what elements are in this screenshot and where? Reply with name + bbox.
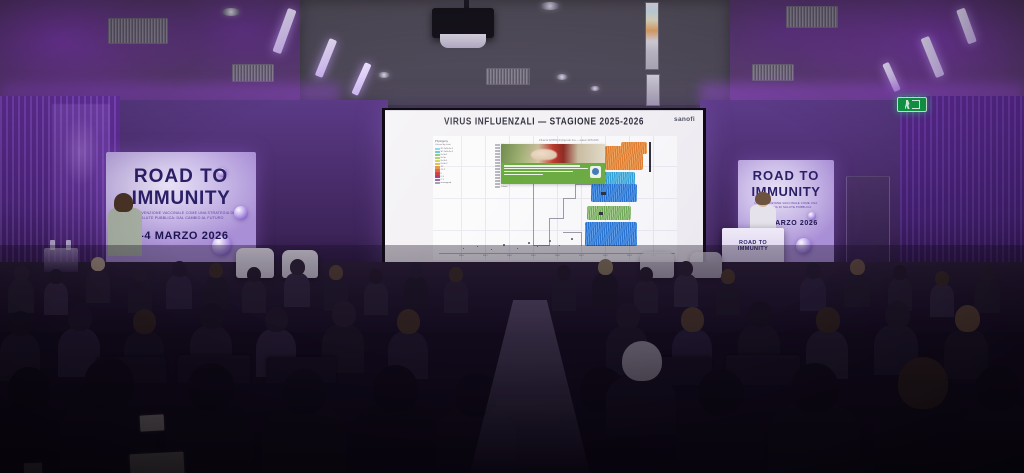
- audience-member: [592, 259, 618, 307]
- audience-member: [364, 269, 388, 315]
- audience-member: [404, 263, 428, 309]
- legend-label: 3C.2a1b.2a.1: [441, 148, 453, 150]
- audience-member: [960, 365, 1024, 473]
- audience-member: [800, 263, 826, 311]
- audience-member: [674, 261, 698, 307]
- audience-member: [716, 269, 740, 315]
- legend-label: unassigned: [441, 182, 452, 184]
- legend-label: J.2: [441, 166, 444, 168]
- legend-swatch: [435, 182, 440, 184]
- slide-callout-box: [501, 144, 605, 184]
- audience-member: [552, 265, 576, 311]
- audience-member: [166, 261, 192, 309]
- ceiling-vent: [752, 64, 794, 81]
- audience-member: [444, 267, 468, 313]
- slide-title: VIRUS INFLUENZALI — STAGIONE 2025-2026: [385, 116, 703, 127]
- clade-cluster-c1: [585, 222, 637, 246]
- ceiling-downlight: [590, 86, 600, 91]
- who-logo-icon: [590, 166, 601, 178]
- sanofi-logo: sanofi: [674, 116, 695, 123]
- printed-program: [24, 463, 43, 473]
- banner-left-title-line1: ROAD TO: [106, 166, 256, 188]
- audience-member: [0, 367, 66, 473]
- clade-highlight-bar: [599, 212, 603, 215]
- audience-member: [352, 365, 438, 473]
- ceiling-vent: [786, 6, 838, 28]
- clade-cluster-d3: [587, 206, 631, 220]
- legend-swatch: [435, 151, 440, 153]
- clade-cluster-j2: [621, 142, 647, 154]
- legend-label: 2a.3a: [441, 157, 446, 159]
- legend-label: 2a.1b.2: [441, 163, 448, 165]
- ceiling-center-panel: [300, 0, 730, 105]
- legend2-label: Poland: [501, 186, 507, 188]
- slide-chart: Phylogeny Colored by clade 3C.2a1b.2a.1 …: [433, 136, 677, 260]
- ceiling-vent: [486, 68, 530, 85]
- audience-member: [676, 369, 764, 473]
- ceiling-downlight: [556, 74, 568, 80]
- emergency-exit-icon: [897, 97, 927, 112]
- clade-highlight-bar: [649, 142, 651, 172]
- legend-swatch: [435, 172, 440, 174]
- audience-member: [844, 259, 870, 307]
- ceiling-downlight: [378, 72, 390, 78]
- legend-label: 3C.2a1b.2a.2: [441, 151, 453, 153]
- legend-swatch: [435, 166, 440, 168]
- tree-title: Influenza A(H3N2) phylogenetic tree — se…: [539, 140, 599, 142]
- legend-label: D.3: [441, 176, 444, 178]
- audience-member: [606, 341, 676, 435]
- printed-program: [129, 452, 184, 473]
- printed-program: [140, 414, 165, 431]
- legend-swatch: [435, 160, 440, 162]
- slide-top-rule: [385, 110, 703, 111]
- clade-cluster-j22: [591, 184, 637, 202]
- ceiling-vent: [108, 18, 168, 44]
- ceiling-vent: [232, 64, 274, 82]
- legend-swatch: [435, 148, 440, 150]
- panelist-hair: [114, 193, 133, 212]
- clade-highlight-bar: [601, 192, 606, 195]
- audience-member: [128, 267, 152, 313]
- audience-member: [86, 257, 110, 303]
- projector-lens-glow: [440, 34, 486, 48]
- legend-swatch: [435, 157, 440, 159]
- audience-member: [768, 363, 860, 473]
- ceiling-color-panel: [645, 2, 659, 70]
- legend-label: K: [441, 173, 442, 175]
- audience-member: [8, 265, 34, 313]
- exit-door-glyph: [912, 100, 920, 109]
- legend-title: Phylogeny: [435, 140, 457, 143]
- audience-member: [284, 259, 310, 307]
- conference-hall-photo: VIRUS INFLUENZALI — STAGIONE 2025-2026 s…: [0, 0, 1024, 473]
- legend-label: 2a.3a.1: [441, 154, 448, 156]
- audience-member: [874, 357, 970, 473]
- callout-text-block: [501, 163, 605, 184]
- running-man-glyph: [905, 100, 910, 109]
- callout-photo: [501, 144, 605, 163]
- legend-label: C.1: [441, 179, 444, 181]
- ceiling-downlight: [222, 8, 240, 16]
- legend-swatch: [435, 175, 440, 177]
- legend-swatch: [435, 169, 440, 171]
- audience-member: [262, 369, 346, 473]
- legend-swatch: [435, 179, 440, 181]
- chart-legend-clade: Phylogeny Colored by clade 3C.2a1b.2a.1 …: [435, 140, 457, 185]
- speaker-hair: [755, 192, 771, 205]
- legend-label: J.2.2: [441, 169, 446, 171]
- banner-right-title-line1: ROAD TO: [738, 168, 834, 183]
- ceiling-color-panel: [646, 74, 660, 106]
- legend-subtitle: Colored by clade: [435, 144, 457, 146]
- legend-label: 2a.1b.1: [441, 160, 448, 162]
- ceiling-downlight: [540, 2, 560, 10]
- legend-swatch: [435, 154, 440, 156]
